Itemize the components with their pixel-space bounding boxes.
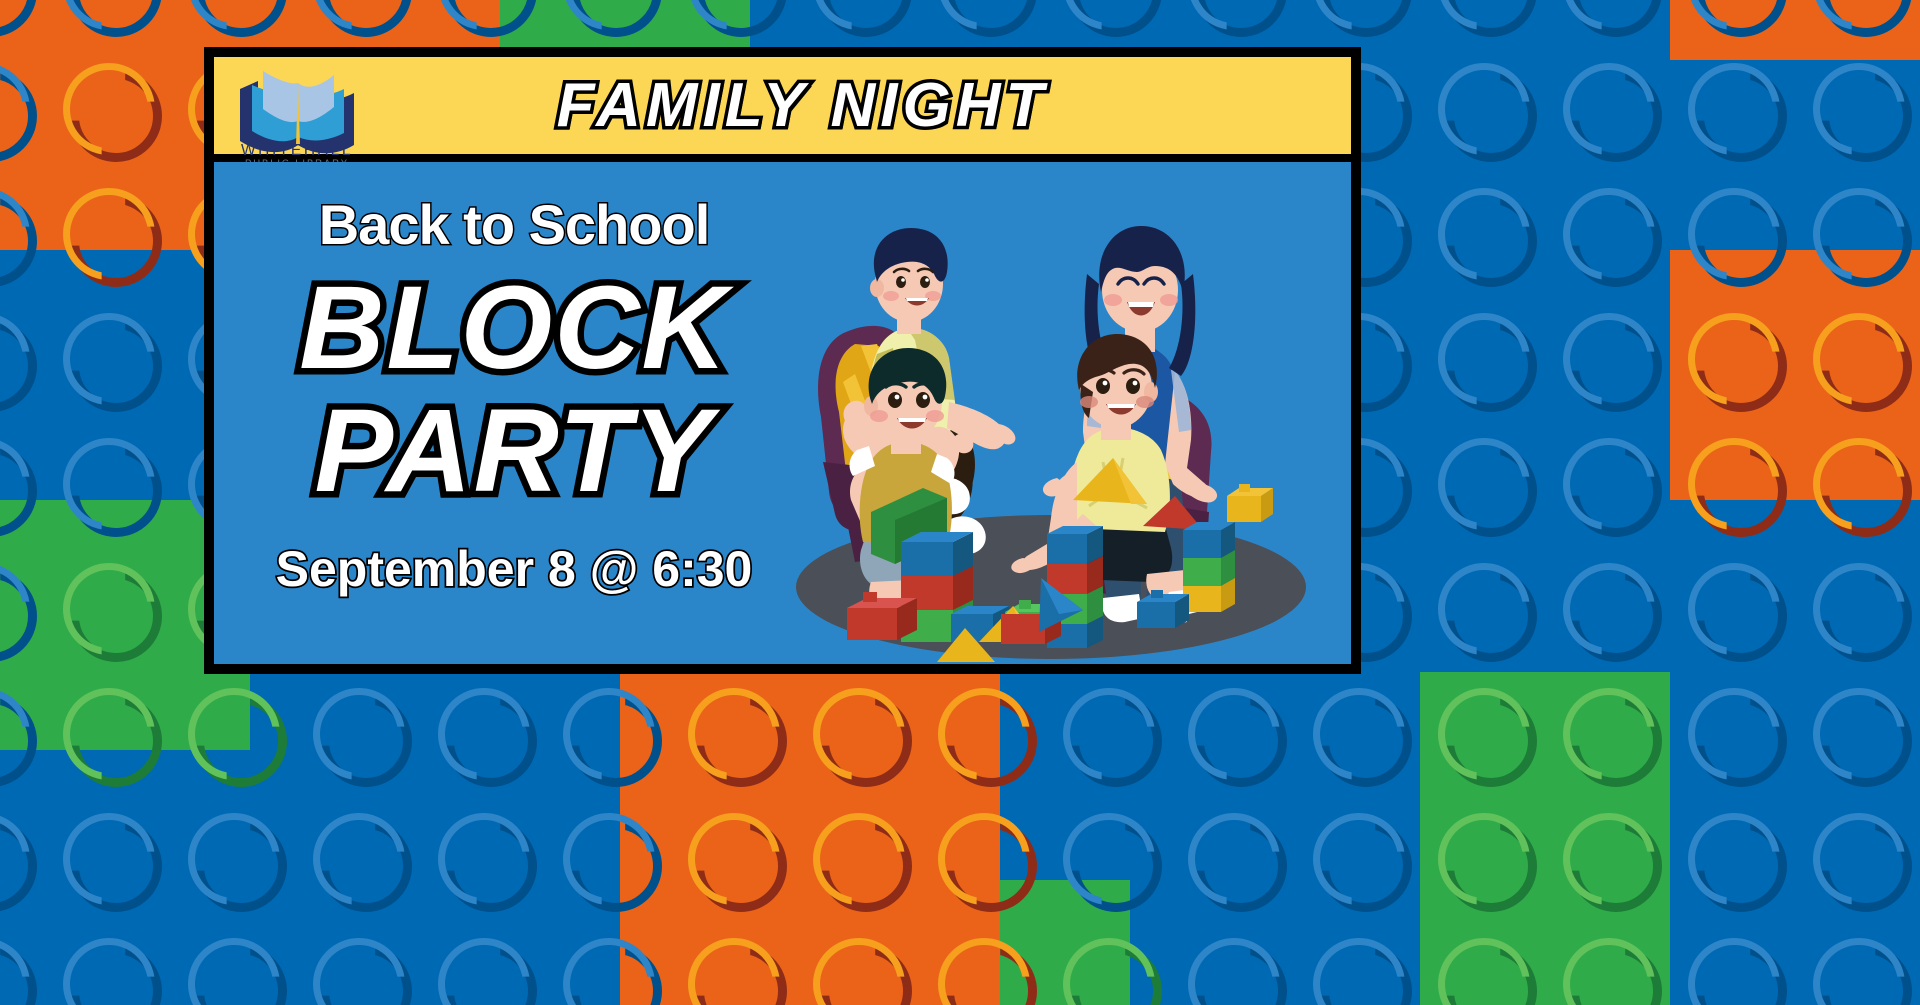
lego-stud: [1563, 188, 1655, 280]
lego-stud: [1688, 438, 1780, 530]
lego-stud: [188, 813, 280, 905]
lego-stud: [563, 0, 655, 30]
lego-stud: [63, 938, 155, 1005]
lego-stud: [1813, 688, 1905, 780]
lego-stud: [0, 188, 30, 280]
lego-stud: [438, 0, 530, 30]
lego-stud: [1438, 813, 1530, 905]
lego-stud: [938, 813, 1030, 905]
lego-stud: [1688, 813, 1780, 905]
lego-stud: [563, 813, 655, 905]
lego-stud: [688, 938, 780, 1005]
lego-stud: [1313, 938, 1405, 1005]
lego-stud: [938, 0, 1030, 30]
lego-stud: [0, 813, 30, 905]
lego-stud: [438, 688, 530, 780]
lego-stud: [1563, 313, 1655, 405]
lego-stud: [1063, 813, 1155, 905]
whitehall-public-library-logo: WHITEHALL PUBLIC LIBRARY: [222, 59, 372, 169]
lego-stud: [1563, 813, 1655, 905]
lego-stud: [63, 0, 155, 30]
lego-stud: [1188, 813, 1280, 905]
lego-stud: [1438, 438, 1530, 530]
lego-stud: [313, 0, 405, 30]
lego-stud: [938, 688, 1030, 780]
headline-word-block: BLOCK: [244, 265, 784, 392]
lego-stud: [188, 938, 280, 1005]
lego-stud: [1688, 188, 1780, 280]
lego-stud: [938, 938, 1030, 1005]
lego-stud: [1688, 938, 1780, 1005]
lego-stud: [313, 688, 405, 780]
lego-stud: [1563, 563, 1655, 655]
lego-stud: [0, 63, 30, 155]
headline-column: Back to School BLOCK PARTY September 8 @…: [244, 192, 784, 598]
event-date-time: September 8 @ 6:30: [244, 540, 784, 598]
lego-stud: [563, 688, 655, 780]
lego-stud: [813, 938, 905, 1005]
lego-stud: [1063, 938, 1155, 1005]
lego-stud: [688, 688, 780, 780]
headline-eyebrow: Back to School: [244, 192, 784, 257]
family-playing-with-blocks-illustration: [751, 162, 1351, 672]
lego-stud: [688, 0, 780, 30]
lego-stud: [688, 813, 780, 905]
lego-stud: [188, 688, 280, 780]
lego-stud: [313, 813, 405, 905]
lego-stud: [188, 0, 280, 30]
lego-stud: [1563, 688, 1655, 780]
lego-stud: [1063, 0, 1155, 30]
lego-stud: [1063, 688, 1155, 780]
lego-stud: [1438, 188, 1530, 280]
lego-stud: [63, 438, 155, 530]
lego-stud: [1813, 0, 1905, 30]
lego-stud: [563, 938, 655, 1005]
lego-stud: [0, 688, 30, 780]
lego-stud: [63, 813, 155, 905]
lego-stud: [1188, 938, 1280, 1005]
lego-stud: [1813, 313, 1905, 405]
lego-stud: [63, 63, 155, 155]
lego-stud: [1688, 0, 1780, 30]
event-poster: WHITEHALL PUBLIC LIBRARY FAMILY NIGHT Ba…: [205, 48, 1360, 673]
lego-stud: [0, 563, 30, 655]
lego-stud: [1438, 0, 1530, 30]
lego-stud: [438, 938, 530, 1005]
lego-stud: [1438, 938, 1530, 1005]
lego-stud: [1813, 188, 1905, 280]
banner-title: FAMILY NIGHT: [214, 70, 1351, 141]
poster-body: Back to School BLOCK PARTY September 8 @…: [214, 162, 1351, 664]
lego-stud: [63, 188, 155, 280]
lego-stud: [1688, 63, 1780, 155]
headline-word-party: PARTY: [244, 388, 784, 515]
lego-stud: [1688, 313, 1780, 405]
lego-stud: [1688, 563, 1780, 655]
lego-stud: [1438, 563, 1530, 655]
lego-stud: [0, 438, 30, 530]
lego-stud: [1188, 688, 1280, 780]
poster-banner: WHITEHALL PUBLIC LIBRARY FAMILY NIGHT: [214, 57, 1351, 162]
lego-stud: [0, 0, 30, 30]
lego-stud: [1563, 0, 1655, 30]
lego-stud: [1313, 688, 1405, 780]
lego-stud: [1813, 938, 1905, 1005]
lego-stud: [813, 688, 905, 780]
lego-stud: [1813, 813, 1905, 905]
lego-stud: [1563, 438, 1655, 530]
lego-stud: [1688, 688, 1780, 780]
lego-stud: [438, 813, 530, 905]
lego-stud: [1813, 563, 1905, 655]
lego-stud: [1313, 813, 1405, 905]
lego-stud: [1563, 938, 1655, 1005]
lego-stud: [813, 813, 905, 905]
lego-stud: [1188, 0, 1280, 30]
lego-stud: [63, 313, 155, 405]
lego-stud: [0, 938, 30, 1005]
lego-stud: [1438, 63, 1530, 155]
lego-stud: [1563, 63, 1655, 155]
lego-stud: [63, 563, 155, 655]
lego-stud: [1813, 438, 1905, 530]
lego-stud: [313, 938, 405, 1005]
logo-line1: WHITEHALL: [241, 142, 353, 159]
poster-canvas: WHITEHALL PUBLIC LIBRARY FAMILY NIGHT Ba…: [0, 0, 1920, 1005]
lego-stud: [1438, 688, 1530, 780]
lego-stud: [813, 0, 905, 30]
lego-stud: [0, 313, 30, 405]
lego-stud: [63, 688, 155, 780]
lego-stud: [1313, 0, 1405, 30]
lego-stud: [1438, 313, 1530, 405]
lego-stud: [1813, 63, 1905, 155]
